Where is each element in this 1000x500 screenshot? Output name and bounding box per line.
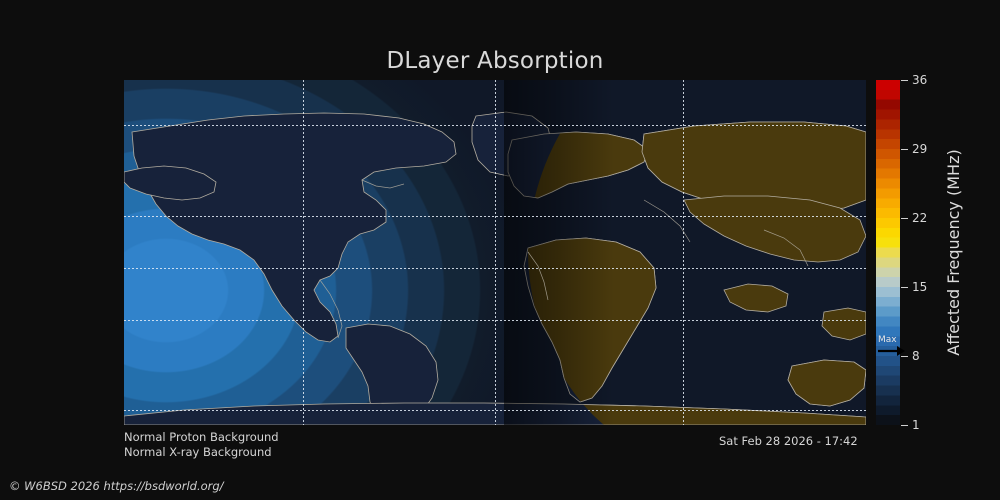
colorbar-tick-label: 22 (912, 211, 927, 225)
dlayer-absorption-page: DLayer Absorption (0, 0, 1000, 500)
colorbar-tick-label: 1 (912, 418, 920, 432)
colorbar[interactable] (876, 80, 900, 425)
world-map-svg (124, 80, 866, 425)
colorbar-tick-mark (901, 356, 908, 357)
colorbar-tick-label: 29 (912, 142, 927, 156)
colorbar-axis-label: Affected Frequency (MHz) (944, 80, 966, 425)
colorbar-max-label: Max (878, 335, 897, 345)
map-layers (124, 80, 866, 425)
world-map-panel[interactable] (124, 80, 866, 425)
page-title: DLayer Absorption (0, 48, 990, 74)
colorbar-tick-mark (901, 287, 908, 288)
xray-background-note: Normal X-ray Background (124, 445, 272, 459)
colorbar-tick-label: 36 (912, 73, 927, 87)
colorbar-tick-mark (901, 149, 908, 150)
colorbar-tick-label: 8 (912, 349, 920, 363)
colorbar-tick-mark (901, 218, 908, 219)
colorbar-tick-mark (901, 425, 908, 426)
colorbar-tick-label: 15 (912, 280, 927, 294)
terminator-shadow (504, 80, 614, 425)
colorbar-gradient (876, 80, 900, 425)
proton-background-note: Normal Proton Background (124, 430, 279, 444)
copyright-footer: © W6BSD 2026 https://bsdworld.org/ (9, 479, 224, 493)
colorbar-tick-mark (901, 80, 908, 81)
timestamp-label: Sat Feb 28 2026 - 17:42 (719, 434, 858, 448)
